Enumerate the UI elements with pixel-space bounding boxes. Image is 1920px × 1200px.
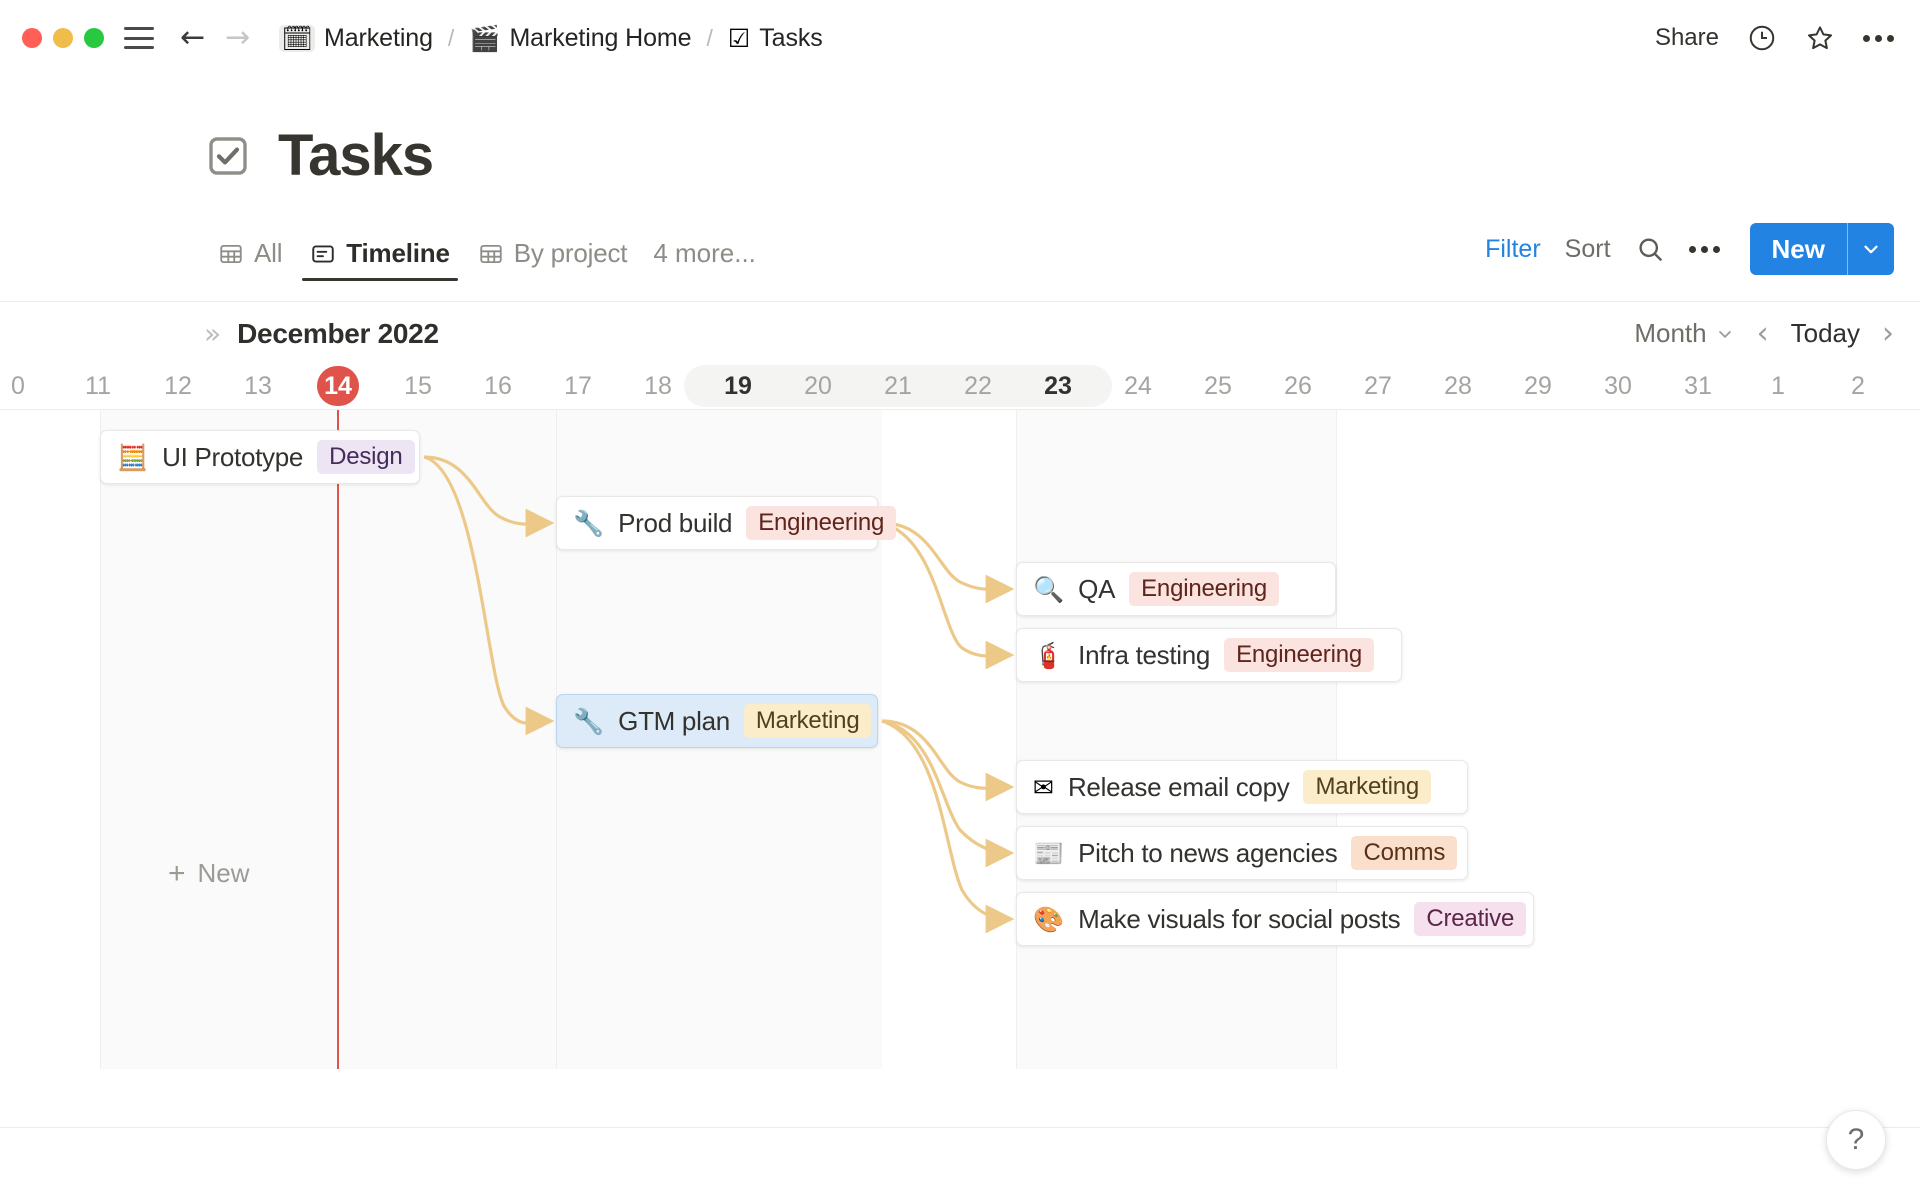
day-cell[interactable]: 20	[778, 363, 858, 409]
day-cell[interactable]: 2	[1818, 363, 1898, 409]
day-cell[interactable]: 15	[378, 363, 458, 409]
wrench-icon: 🔧	[573, 709, 604, 734]
header-actions: Share	[1655, 23, 1894, 53]
task-card[interactable]: 🎨Make visuals for social postsCreative	[1016, 892, 1534, 946]
maximize-button[interactable]	[84, 28, 104, 48]
wrench-icon: 🔧	[573, 511, 604, 536]
timeline-grid: 🧮UI PrototypeDesign🔧Prod buildEngineerin…	[0, 409, 1920, 1069]
day-cell[interactable]: 0	[0, 363, 58, 409]
day-cell[interactable]: 13	[218, 363, 298, 409]
sort-button[interactable]: Sort	[1565, 235, 1611, 264]
day-ruler: 0111213141516171819202122232425262728293…	[0, 363, 1920, 409]
today-marker: 14	[317, 366, 359, 406]
magnifier-icon: 🔍	[1033, 577, 1064, 602]
day-cell[interactable]: 18	[618, 363, 698, 409]
day-cell[interactable]: 22	[938, 363, 1018, 409]
task-title: GTM plan	[618, 706, 730, 737]
task-title: Infra testing	[1078, 640, 1210, 671]
timeline-month: » December 2022	[204, 318, 439, 350]
next-period-button[interactable]: ›	[1882, 316, 1894, 351]
day-cell[interactable]: 27	[1338, 363, 1418, 409]
page-header: Tasks	[0, 76, 1920, 189]
minimize-button[interactable]	[53, 28, 73, 48]
prev-period-button[interactable]: ‹	[1757, 316, 1769, 351]
help-button[interactable]: ?	[1826, 1110, 1886, 1170]
task-card[interactable]: 🔧GTM planMarketing	[556, 694, 878, 748]
newspaper-icon: 📰	[1033, 841, 1064, 866]
envelope-icon: ✉	[1033, 775, 1054, 800]
zoom-level-select[interactable]: Month	[1634, 318, 1734, 349]
day-cell[interactable]: 11	[58, 363, 138, 409]
day-cell[interactable]: 24	[1098, 363, 1178, 409]
breadcrumb-item-tasks[interactable]: ☑ Tasks	[721, 20, 830, 57]
table-icon	[478, 241, 504, 267]
search-icon[interactable]	[1635, 234, 1665, 264]
clock-icon[interactable]	[1747, 23, 1777, 53]
task-tag: Engineering	[746, 506, 896, 540]
close-button[interactable]	[22, 28, 42, 48]
view-tab-bar: All Timeline By projec	[0, 225, 1920, 281]
day-cell[interactable]: 16	[458, 363, 538, 409]
task-tag: Comms	[1351, 836, 1457, 870]
tab-label: All	[254, 238, 282, 269]
breadcrumb-item-marketing-home[interactable]: 🎬 Marketing Home	[462, 20, 698, 57]
breadcrumb-separator: /	[440, 25, 462, 52]
timeline-controls: Month ‹ Today ›	[1634, 316, 1894, 351]
today-button[interactable]: Today	[1791, 318, 1860, 349]
task-tag: Engineering	[1224, 638, 1374, 672]
day-cell[interactable]: 23	[1018, 363, 1098, 409]
title-bar: ← → 🗓 Marketing / 🎬 Marketing Home / ☑ T…	[0, 0, 1920, 76]
grid-line	[1016, 410, 1017, 1069]
new-button-label: New	[1750, 223, 1847, 275]
zoom-level-label: Month	[1634, 318, 1706, 349]
new-task-row[interactable]: + New	[168, 858, 250, 889]
star-icon[interactable]	[1805, 23, 1835, 53]
share-button[interactable]: Share	[1655, 24, 1719, 52]
day-cell[interactable]: 17	[538, 363, 618, 409]
tab-by-project[interactable]: By project	[464, 238, 642, 281]
new-task-label: New	[198, 858, 250, 889]
new-button[interactable]: New	[1750, 223, 1894, 275]
breadcrumb-label: Tasks	[759, 24, 822, 53]
table-icon	[218, 241, 244, 267]
task-card[interactable]: 🔧Prod buildEngineering	[556, 496, 878, 550]
day-column-shade	[1016, 410, 1336, 1069]
task-title: UI Prototype	[162, 442, 303, 473]
task-title: Release email copy	[1068, 772, 1290, 803]
notion-window: ← → 🗓 Marketing / 🎬 Marketing Home / ☑ T…	[0, 0, 1920, 1200]
today-line	[337, 410, 339, 1069]
breadcrumb-item-marketing[interactable]: 🗓 Marketing	[272, 20, 440, 57]
chevron-down-icon[interactable]	[1848, 223, 1894, 275]
task-card[interactable]: 📰Pitch to news agenciesComms	[1016, 826, 1468, 880]
view-toolbar: Filter Sort New	[1485, 223, 1894, 281]
task-card[interactable]: 🧯Infra testingEngineering	[1016, 628, 1402, 682]
arrow-left-icon[interactable]: ←	[180, 23, 205, 53]
calendar-icon: 🗓	[279, 25, 315, 52]
task-card[interactable]: 🧮UI PrototypeDesign	[100, 430, 420, 484]
breadcrumb-separator: /	[698, 25, 720, 52]
arrow-right-icon[interactable]: →	[225, 23, 250, 53]
view-more-icon[interactable]	[1689, 246, 1720, 253]
footer-divider	[0, 1127, 1920, 1128]
view-tabs: All Timeline By projec	[204, 238, 768, 281]
task-title: QA	[1078, 574, 1115, 605]
breadcrumb-label: Marketing	[324, 24, 433, 53]
grid-line	[100, 410, 101, 1069]
task-title: Pitch to news agencies	[1078, 838, 1337, 869]
tab-timeline[interactable]: Timeline	[296, 238, 463, 281]
day-column-shade	[100, 410, 556, 1069]
filter-button[interactable]: Filter	[1485, 235, 1541, 264]
palette-icon: 🎨	[1033, 907, 1064, 932]
tab-label: By project	[514, 238, 628, 269]
day-cell[interactable]: 31	[1658, 363, 1738, 409]
grid-line	[1336, 410, 1337, 1069]
task-tag: Design	[317, 440, 415, 474]
day-cell[interactable]: 1	[1738, 363, 1818, 409]
server-canister-icon: 🧯	[1033, 643, 1064, 668]
breadcrumb: 🗓 Marketing / 🎬 Marketing Home / ☑ Tasks	[272, 20, 829, 57]
timeline-icon	[310, 241, 336, 267]
day-cell[interactable]: 29	[1498, 363, 1578, 409]
nav-arrows: ← →	[180, 23, 250, 53]
day-cell[interactable]: 21	[858, 363, 938, 409]
checkbox-icon: ☑	[728, 26, 750, 51]
breadcrumb-label: Marketing Home	[509, 24, 691, 53]
day-cell[interactable]: 19	[698, 363, 778, 409]
grid-abacus-icon: 🧮	[117, 445, 148, 470]
plus-icon: +	[168, 859, 186, 889]
day-cell[interactable]: 25	[1178, 363, 1258, 409]
day-cell[interactable]: 30	[1578, 363, 1658, 409]
task-tag: Creative	[1414, 902, 1526, 936]
chevron-double-right-icon[interactable]: »	[204, 320, 221, 348]
tab-all[interactable]: All	[204, 238, 296, 281]
ellipsis-icon[interactable]	[1863, 35, 1894, 42]
hamburger-icon[interactable]	[124, 27, 154, 49]
day-cell[interactable]: 12	[138, 363, 218, 409]
task-tag: Marketing	[1303, 770, 1431, 804]
task-card[interactable]: 🔍QAEngineering	[1016, 562, 1336, 616]
clapperboard-icon: 🎬	[469, 26, 500, 51]
day-cell[interactable]: 3	[1898, 363, 1920, 409]
task-card[interactable]: ✉Release email copyMarketing	[1016, 760, 1468, 814]
task-title: Make visuals for social posts	[1078, 904, 1400, 935]
checkbox-icon	[204, 132, 252, 180]
task-title: Prod build	[618, 508, 732, 539]
traffic-lights	[22, 28, 104, 48]
day-cell[interactable]: 26	[1258, 363, 1338, 409]
task-tag: Engineering	[1129, 572, 1279, 606]
day-ruler-cells: 0111213141516171819202122232425262728293…	[0, 363, 1920, 409]
more-views-button[interactable]: 4 more...	[641, 238, 768, 281]
task-tag: Marketing	[744, 704, 872, 738]
day-cell[interactable]: 28	[1418, 363, 1498, 409]
timeline-header: » December 2022 Month ‹ Today ›	[0, 301, 1920, 357]
page-title: Tasks	[278, 122, 433, 189]
month-label: December 2022	[237, 318, 439, 350]
tab-label: Timeline	[346, 238, 449, 269]
